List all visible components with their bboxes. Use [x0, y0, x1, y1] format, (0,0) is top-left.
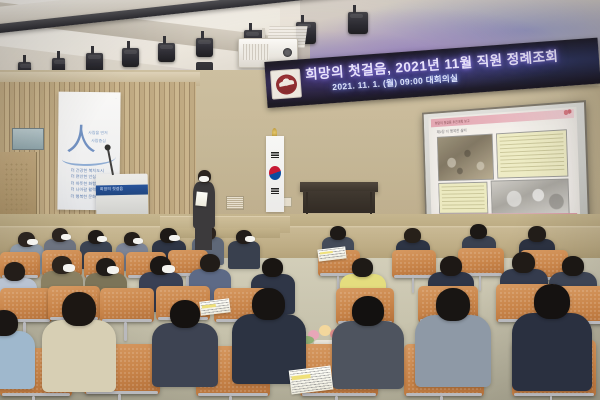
- face-mask: [61, 234, 71, 240]
- wall-monitor: [12, 128, 44, 150]
- attendee-head: [528, 226, 546, 242]
- attendee-torso: [512, 313, 592, 391]
- projector-lens-icon: [283, 48, 292, 57]
- door-perforation-pattern: [4, 162, 30, 222]
- chair-leg: [32, 396, 35, 400]
- auditorium-photo: · 人 사람을 먼저 사람중심 더 건강한 복지도시더 편안한 안심도시더 따뜻…: [0, 0, 600, 400]
- chair-frame: [406, 393, 482, 396]
- face-mask: [63, 264, 75, 272]
- presenter-document: [195, 191, 207, 206]
- stage-spotlight: [122, 48, 139, 67]
- slide-text-lines: [442, 186, 485, 211]
- chair-leg: [335, 396, 338, 400]
- presenter-face-mask: [199, 176, 209, 182]
- table-leg: [306, 192, 308, 214]
- attendee-torso: [415, 315, 491, 387]
- attendee-head: [470, 224, 487, 239]
- chair-frame: [514, 393, 594, 396]
- attendee-head: [262, 258, 283, 277]
- chair-frame: [302, 393, 376, 396]
- attendee-head: [440, 256, 462, 276]
- chair-frame: [394, 275, 434, 278]
- audience-chair: [100, 288, 154, 322]
- attendee-torso: [152, 323, 218, 387]
- slide-title-text: 제2장 더 행복한 삶터: [437, 128, 467, 135]
- stage-table-skirt: [303, 191, 375, 213]
- attendee-torso: [332, 321, 404, 389]
- attendee-head: [330, 226, 346, 240]
- speaker-podium: 희망의 첫걸음: [96, 174, 149, 217]
- presenter-legs: [195, 226, 212, 250]
- paper-text-lines: [290, 367, 332, 394]
- attendee-head: [436, 288, 470, 321]
- attendee-head: [562, 256, 584, 276]
- face-mask: [133, 238, 143, 244]
- chair-frame: [2, 393, 70, 396]
- slide-text-panel-right: [496, 129, 568, 178]
- slide-photo-panel-bottom-right: [491, 179, 570, 215]
- attendee-head: [352, 296, 384, 326]
- slide-text-panel-bottom-left: [438, 182, 488, 214]
- attendee-head: [512, 252, 535, 273]
- face-mask: [245, 236, 255, 242]
- stage-spotlight: [158, 43, 175, 62]
- face-mask: [27, 239, 38, 245]
- attendee-torso: [42, 320, 116, 392]
- chair-leg: [124, 322, 127, 341]
- banner-side-text-1: 사람을 먼저: [88, 130, 108, 136]
- stage-spotlight: [348, 12, 368, 34]
- attendee-head: [404, 228, 421, 243]
- banner-corner-mark: ·: [116, 96, 117, 100]
- attendee-head: [534, 284, 570, 319]
- attendee-torso: [228, 241, 260, 269]
- attendee-head: [170, 300, 200, 328]
- attendee-head: [62, 292, 96, 326]
- chair-leg: [229, 396, 232, 400]
- attendee-head: [200, 254, 220, 272]
- attendee-head: [352, 258, 373, 277]
- stage-step: [172, 228, 280, 238]
- table-leg: [370, 192, 372, 214]
- slide-header-bar: 희망의 첫걸음 추진계획 보고: [431, 109, 574, 127]
- screen-surface: 희망의 첫걸음 추진계획 보고 제2장 더 행복한 삶터 희망찬 미래를 여는 …: [424, 102, 588, 226]
- taeguk-circle-icon: [269, 166, 281, 180]
- chair-leg: [412, 278, 415, 293]
- city-emblem-logo: [270, 68, 302, 99]
- banner-side-text-2: 사람중심: [91, 138, 106, 144]
- projector-vent: [243, 44, 269, 60]
- wall-outlet: [283, 197, 292, 207]
- chair-leg: [440, 396, 443, 400]
- flag-trigram: [271, 188, 279, 194]
- wall-air-vent: [226, 196, 244, 210]
- slide-header-text: 희망의 첫걸음 추진계획 보고: [435, 118, 470, 125]
- korean-national-flag-taegukgi: [266, 136, 284, 212]
- attendee-torso: [0, 331, 35, 389]
- chair-leg: [118, 394, 121, 400]
- projection-screen: 희망의 첫걸음 추진계획 보고 제2장 더 행복한 삶터 희망찬 미래를 여는 …: [422, 100, 590, 228]
- attendee-head: [4, 262, 25, 281]
- chair-leg: [479, 276, 482, 291]
- face-mask: [97, 236, 107, 242]
- podium-band-text: 희망의 첫걸음: [100, 186, 123, 192]
- handout-paper: [289, 366, 334, 395]
- chair-frame: [102, 319, 152, 322]
- slide-decor-icon: [561, 108, 573, 117]
- slide-text-lines: [500, 133, 565, 174]
- attendee-head: [252, 288, 285, 320]
- flag-trigram: [271, 152, 279, 158]
- presentation-slide: 희망의 첫걸음 추진계획 보고 제2장 더 행복한 삶터 희망찬 미래를 여는 …: [428, 107, 580, 222]
- face-mask: [162, 265, 175, 273]
- podium-name-band: 희망의 첫걸음: [96, 185, 148, 196]
- face-mask: [107, 266, 119, 274]
- stage-spotlight: [196, 38, 213, 57]
- chair-leg: [550, 396, 553, 400]
- slide-photo-panel-left: [437, 134, 494, 182]
- audience-chair: [392, 250, 436, 278]
- emblem-icon: [275, 73, 297, 94]
- chair-frame: [198, 393, 268, 396]
- face-mask: [169, 235, 180, 241]
